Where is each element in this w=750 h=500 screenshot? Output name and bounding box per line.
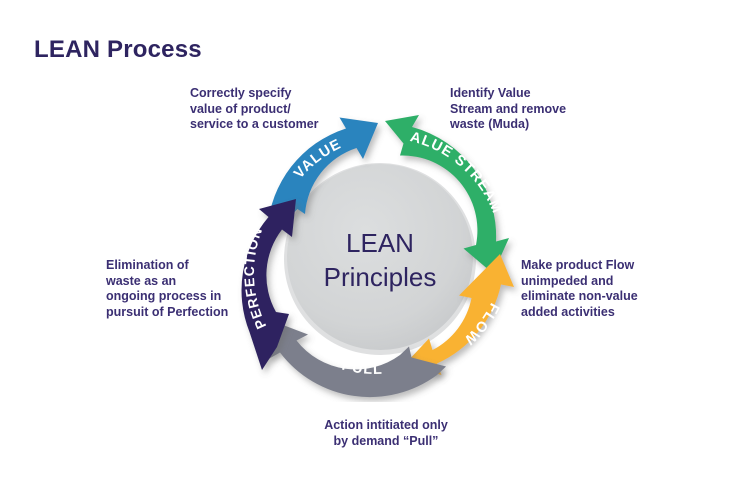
diagram-canvas: LEAN Process Correctly specify value of …: [0, 0, 750, 500]
center-title-line-1: LEAN: [346, 228, 414, 258]
callout-pull: Action intitiated only by demand “Pull”: [306, 418, 466, 449]
callout-pull-line-1: Action intitiated only: [306, 418, 466, 434]
callout-value-line-1: Correctly specify: [190, 86, 340, 102]
page-title: LEAN Process: [34, 36, 202, 64]
lean-cycle-wheel: VALUE VALUE STREAM FLOW PULL: [215, 112, 545, 402]
callout-pull-line-2: by demand “Pull”: [306, 434, 466, 450]
center-title-line-2: Principles: [324, 262, 437, 292]
callout-value-stream-line-1: Identify Value: [450, 86, 610, 102]
